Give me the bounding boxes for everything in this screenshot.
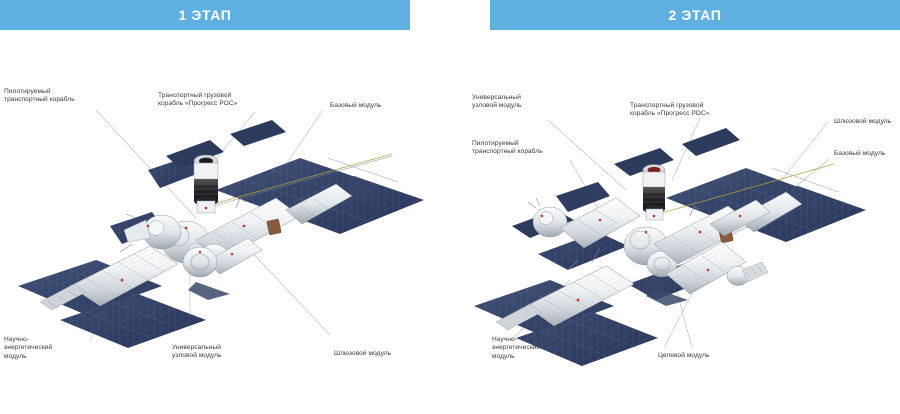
label-node-module: Универсальный узловой модуль <box>172 344 221 361</box>
node-docking-ring <box>183 247 217 277</box>
label-airlock-module-2: Шлюзовой модуль <box>834 118 891 126</box>
label-target-module: Целевой модуль <box>658 352 710 360</box>
stage-2-header: 2 ЭТАП <box>490 0 900 30</box>
spacecraft-cargo-progress <box>194 155 218 213</box>
label-cargo-ship-2: Транспортный грузовой корабль «Прогресс … <box>630 102 709 119</box>
label-science-power: Научно- энергетический модуль <box>4 336 52 361</box>
label-airlock-module: Шлюзовой модуль <box>334 350 391 358</box>
diagram-stage: 1 ЭТАП 2 ЭТАП <box>0 0 900 414</box>
stage-1-header-label: 1 ЭТАП <box>179 7 232 23</box>
label-piloted-ship-2: Пилотируемый транспортный корабль <box>472 140 543 157</box>
label-piloted-ship: Пилотируемый транспортный корабль <box>4 88 75 105</box>
panel-stage-2: Универсальный узловой модуль Пилотируемы… <box>450 30 900 414</box>
label-base-module-2: Базовый модуль <box>834 150 885 158</box>
solar-array-cargo-ship <box>166 120 286 168</box>
label-cargo-ship: Транспортный грузовой корабль «Прогресс … <box>158 92 237 109</box>
panel-stage-1: Пилотируемый транспортный корабль Трансп… <box>0 30 450 414</box>
stage-1-header: 1 ЭТАП <box>0 0 410 30</box>
spacecraft-cargo-progress-2 <box>643 165 665 221</box>
label-node-module-2: Универсальный узловой модуль <box>472 94 521 111</box>
stage-2-header-label: 2 ЭТАП <box>669 7 722 23</box>
solar-array-cargo-ship-2 <box>614 128 740 176</box>
radiator-fin <box>188 282 230 300</box>
label-base-module: Базовый модуль <box>330 102 381 110</box>
label-science-power-2: Научно- энергетический модуль <box>492 336 540 361</box>
